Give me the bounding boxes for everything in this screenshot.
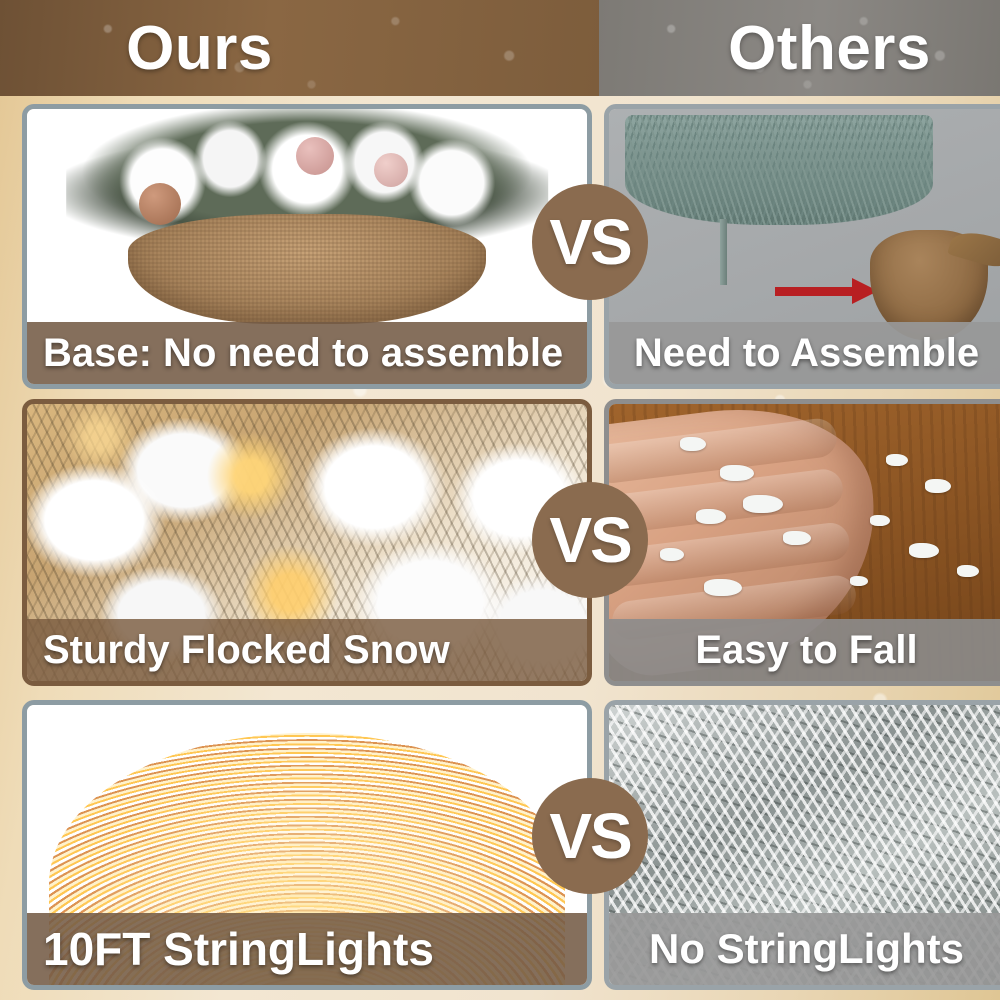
ours-panel-flocking[interactable]: Sturdy Flocked Snow <box>22 399 592 686</box>
snow-flake-icon <box>720 465 754 481</box>
others-caption-lights: No StringLights <box>609 913 1000 985</box>
snow-flake-icon <box>850 576 868 586</box>
snow-flake-icon <box>680 437 706 451</box>
comparison-row-flocking: Sturdy Flocked Snow <box>0 399 1000 686</box>
vs-badge-lights: VS <box>532 778 648 894</box>
tree-pole-icon <box>720 219 727 285</box>
comparison-row-assembly: Base: No need to assemble Need to Assemb… <box>0 104 1000 389</box>
snow-flake-icon <box>696 509 726 524</box>
ours-caption-assembly: Base: No need to assemble <box>27 322 587 384</box>
vs-badge-flocking: VS <box>532 482 648 598</box>
header-bar: Ours Others <box>0 0 1000 96</box>
snow-flake-icon <box>870 515 890 526</box>
red-arrow-icon <box>775 280 878 302</box>
header-ours-panel: Ours <box>0 0 599 96</box>
arrow-shaft <box>775 287 853 296</box>
others-panel-flocking[interactable]: Easy to Fall <box>604 399 1000 686</box>
snow-flake-icon <box>925 479 951 493</box>
others-caption-flocking: Easy to Fall <box>609 619 1000 681</box>
ornament-ball-icon <box>296 137 334 175</box>
others-panel-lights[interactable]: No StringLights <box>604 700 1000 990</box>
comparison-row-lights: 10FT StringLights No StringLights <box>0 700 1000 990</box>
ours-panel-lights[interactable]: 10FT StringLights <box>22 700 592 990</box>
snow-flake-icon <box>660 548 684 561</box>
header-ours-title: Ours <box>0 13 599 84</box>
ours-caption-flocking: Sturdy Flocked Snow <box>27 619 587 681</box>
snow-flake-icon <box>957 565 979 577</box>
snow-flake-icon <box>909 543 939 558</box>
ours-caption-lights: 10FT StringLights <box>27 913 587 985</box>
artificial-branch-icon <box>625 115 933 225</box>
header-others-title: Others <box>599 13 1000 84</box>
comparison-infographic: Ours Others Base: No need to assemble <box>0 0 1000 1000</box>
snow-flake-icon <box>886 454 908 466</box>
ornament-ball-icon <box>374 153 408 187</box>
ornament-ball-icon <box>139 183 181 225</box>
others-caption-assembly: Need to Assemble <box>609 322 1000 384</box>
vs-badge-assembly: VS <box>532 184 648 300</box>
snow-flake-icon <box>704 579 742 596</box>
ours-panel-assembly[interactable]: Base: No need to assemble <box>22 104 592 389</box>
header-others-panel: Others <box>599 0 1000 96</box>
burlap-base-icon <box>128 214 486 324</box>
others-panel-assembly[interactable]: Need to Assemble <box>604 104 1000 389</box>
